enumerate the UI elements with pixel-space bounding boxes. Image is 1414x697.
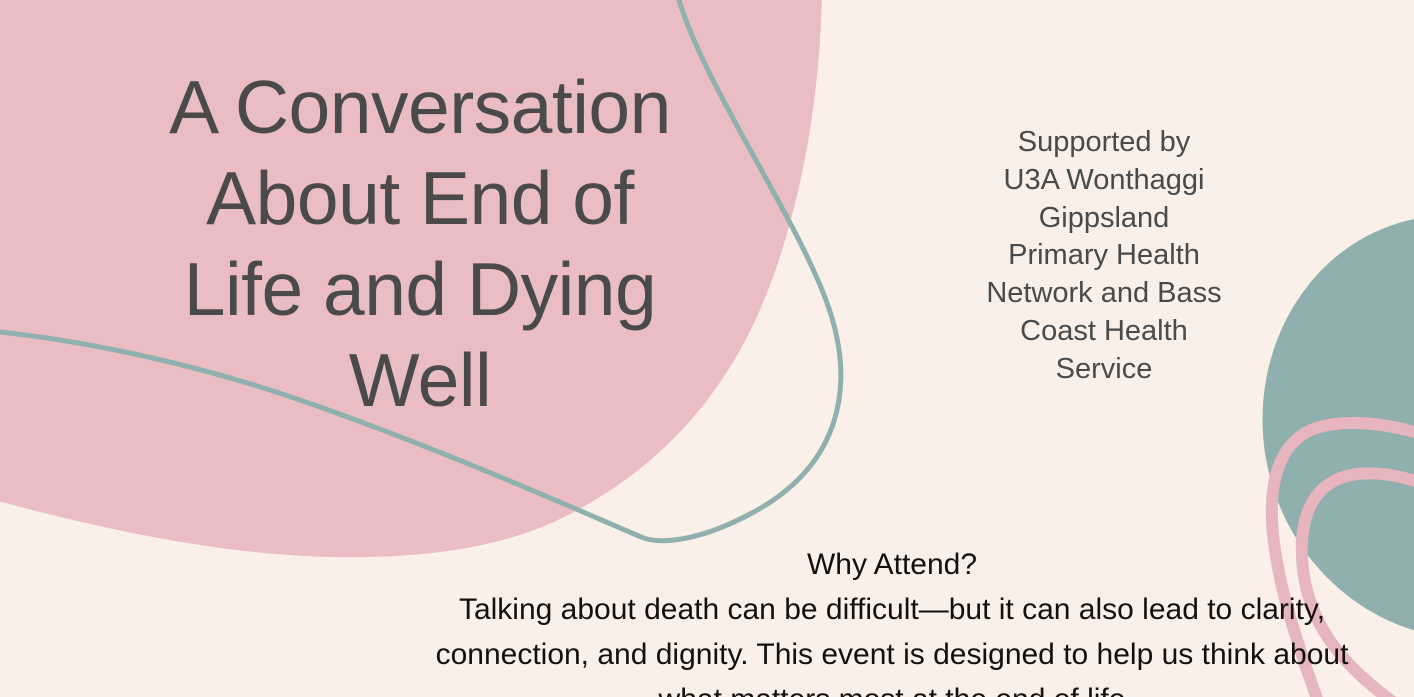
title-line-1: A Conversation <box>70 62 770 153</box>
supporters-credit: Supported by U3A Wonthaggi Gippsland Pri… <box>944 124 1264 389</box>
why-attend-heading: Why Attend? <box>387 543 1397 587</box>
poster-title: A Conversation About End of Life and Dyi… <box>70 62 770 426</box>
poster-canvas: A Conversation About End of Life and Dyi… <box>0 0 1414 697</box>
supporters-line-4: Primary Health <box>944 237 1264 275</box>
supporters-line-6: Coast Health <box>944 313 1264 351</box>
title-line-4: Well <box>70 335 770 426</box>
supporters-line-3: Gippsland <box>944 200 1264 238</box>
supporters-line-5: Network and Bass <box>944 275 1264 313</box>
title-line-3: Life and Dying <box>70 244 770 335</box>
supporters-line-7: Service <box>944 351 1264 389</box>
supporters-line-1: Supported by <box>944 124 1264 162</box>
why-attend-section: Why Attend? Talking about death can be d… <box>387 543 1397 697</box>
supporters-line-2: U3A Wonthaggi <box>944 162 1264 200</box>
why-attend-body: Talking about death can be difficult—but… <box>387 587 1397 697</box>
title-line-2: About End of <box>70 153 770 244</box>
